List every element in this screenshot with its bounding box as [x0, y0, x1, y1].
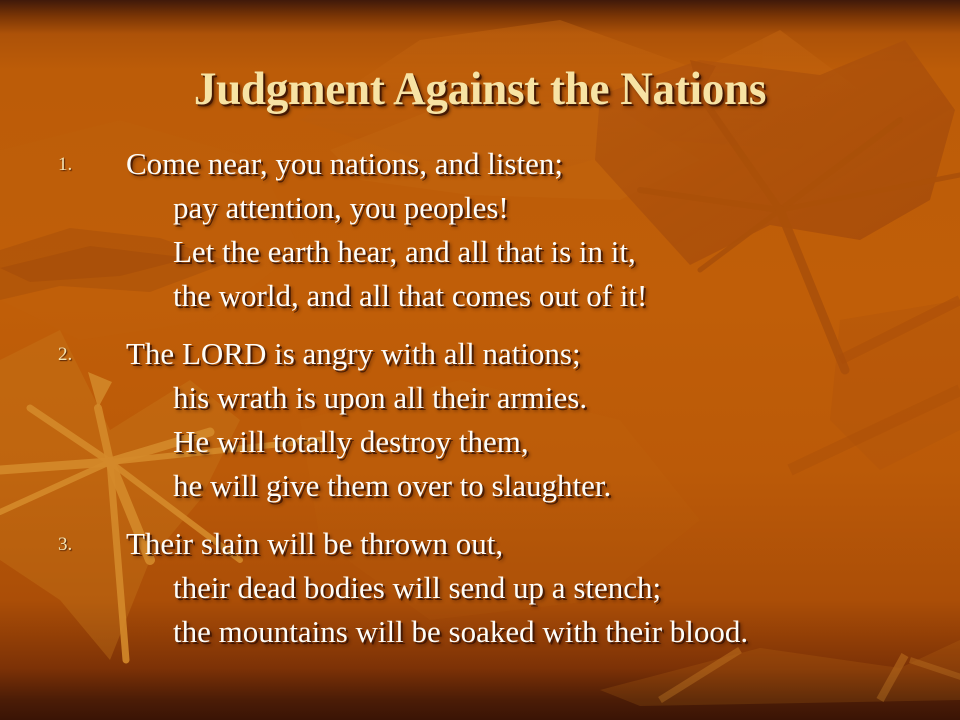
verse-item: 2. The LORD is angry with all nations; h…	[0, 332, 960, 508]
list-marker: 3.	[58, 534, 84, 556]
list-marker: 1.	[58, 154, 84, 176]
verse-line: He will totally destroy them,	[173, 420, 960, 464]
verse-list: 1. Come near, you nations, and listen; p…	[0, 142, 960, 668]
verse-line: his wrath is upon all their armies.	[173, 376, 960, 420]
verse-lines: Their slain will be thrown out, their de…	[0, 522, 960, 654]
list-marker: 2.	[58, 344, 84, 366]
verse-line: the world, and all that comes out of it!	[173, 274, 960, 318]
slide-canvas: Judgment Against the Nations 1. Come nea…	[0, 0, 960, 720]
verse-item: 1. Come near, you nations, and listen; p…	[0, 142, 960, 318]
verse-line: Come near, you nations, and listen;	[126, 142, 960, 186]
verse-line: Let the earth hear, and all that is in i…	[173, 230, 960, 274]
verse-item: 3. Their slain will be thrown out, their…	[0, 522, 960, 654]
verse-line: their dead bodies will send up a stench;	[173, 566, 960, 610]
verse-lines: Come near, you nations, and listen; pay …	[0, 142, 960, 318]
verse-line: pay attention, you peoples!	[173, 186, 960, 230]
verse-line: he will give them over to slaughter.	[173, 464, 960, 508]
verse-lines: The LORD is angry with all nations; his …	[0, 332, 960, 508]
slide-title: Judgment Against the Nations	[19, 62, 941, 116]
verse-line: the mountains will be soaked with their …	[173, 610, 960, 654]
verse-line: Their slain will be thrown out,	[126, 522, 960, 566]
verse-line: The LORD is angry with all nations;	[126, 332, 960, 376]
